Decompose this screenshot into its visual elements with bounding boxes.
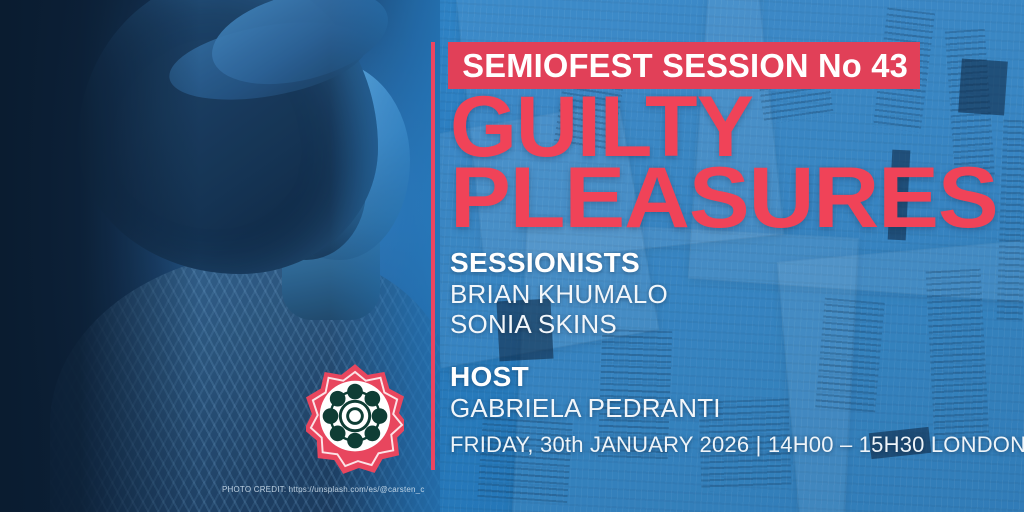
host-block: HOST GABRIELA PEDRANTI [450,362,721,423]
semiofest-logo [306,362,404,474]
sessionists-label: SESSIONISTS [450,248,668,279]
sessionist-name: SONIA SKINS [450,309,668,340]
page-title: GUILTY PLEASURES [450,92,967,233]
event-poster: SEMIOFEST SESSION No 43 GUILTY PLEASURES… [0,0,1024,512]
semiofest-emblem-icon [306,362,404,474]
sessionist-name: BRIAN KHUMALO [450,279,668,310]
host-name: GABRIELA PEDRANTI [450,393,721,424]
photo-credit: PHOTO CREDIT: https://unsplash.com/es/@c… [222,485,425,494]
session-banner-label: SEMIOFEST SESSION No 43 [462,49,908,82]
datetime-line: FRIDAY, 30th JANUARY 2026 | 14H00 – 15H3… [450,432,1024,458]
sessionists-block: SESSIONISTS BRIAN KHUMALO SONIA SKINS [450,248,668,340]
host-label: HOST [450,362,721,393]
vertical-accent-rule [431,42,435,470]
headline-line-2: PLEASURES [450,163,998,234]
